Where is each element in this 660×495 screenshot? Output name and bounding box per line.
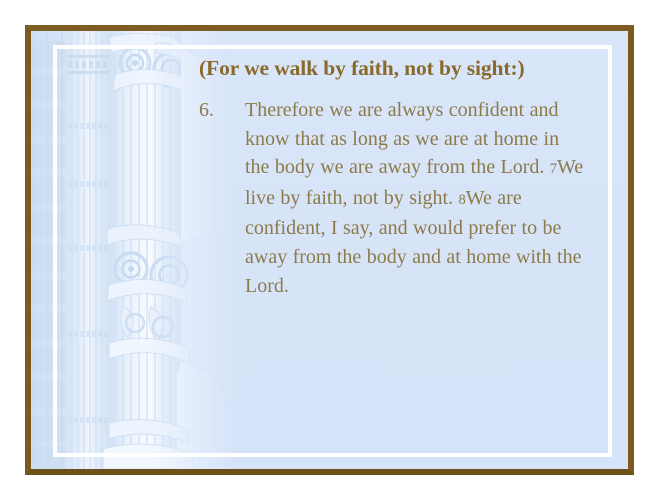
list-marker: 6. <box>199 96 245 125</box>
slide: (For we walk by faith, not by sight:) 6.… <box>0 0 660 495</box>
slide-body-text: Therefore we are always confident and kn… <box>245 96 585 300</box>
verse-number-8: 8 <box>459 192 466 208</box>
slide-text-block: (For we walk by faith, not by sight:) 6.… <box>199 55 585 300</box>
slide-title: (For we walk by faith, not by sight:) <box>199 55 585 82</box>
slide-body-list-item: 6. Therefore we are always confident and… <box>199 96 585 300</box>
body-segment-1: Therefore we are always confident and kn… <box>245 99 559 178</box>
verse-number-7: 7 <box>550 161 557 177</box>
slide-canvas: (For we walk by faith, not by sight:) 6.… <box>31 31 628 469</box>
slide-frame: (For we walk by faith, not by sight:) 6.… <box>25 25 634 475</box>
